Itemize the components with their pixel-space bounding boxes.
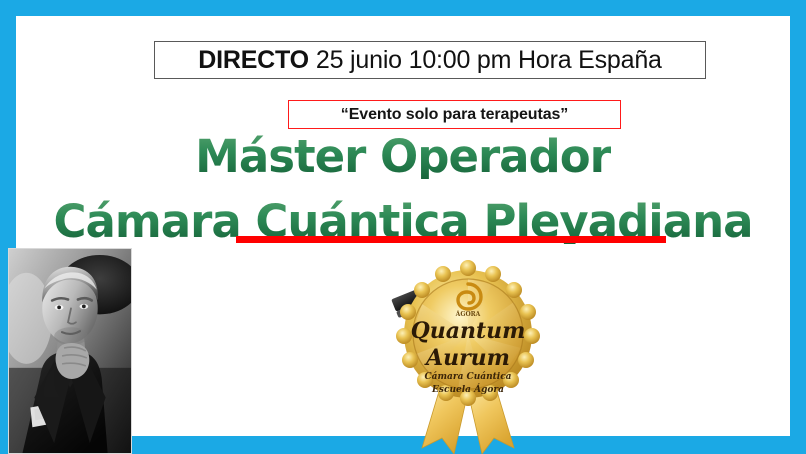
speaker-portrait <box>8 248 132 454</box>
audience-note-text: “Evento solo para terapeutas” <box>341 106 568 124</box>
portrait-image <box>9 249 131 453</box>
title-line-1-text: Máster Operador <box>195 134 611 179</box>
presentation-slide: DIRECTO 25 junio 10:00 pm Hora España “E… <box>0 0 806 454</box>
seal-title-line-2: Aurum <box>424 345 510 371</box>
audience-note-box: “Evento solo para terapeutas” <box>288 100 621 129</box>
banner-lead-label: DIRECTO <box>198 46 309 75</box>
seal-subtitle-line-2: Escuela Ágora <box>431 383 504 395</box>
live-event-banner: DIRECTO 25 junio 10:00 pm Hora España <box>154 41 706 79</box>
title-line-1: Máster Operador Máster Operador <box>16 134 790 179</box>
main-title: Máster Operador Máster Operador Cámara C… <box>16 134 790 244</box>
seal-subtitle-line-1: Cámara Cuántica <box>424 371 511 382</box>
slide-canvas: DIRECTO 25 junio 10:00 pm Hora España “E… <box>16 16 790 436</box>
agora-emblem-label: ÁGORA <box>455 311 481 318</box>
banner-detail-label: 25 junio 10:00 pm Hora España <box>316 46 662 75</box>
title-underline-bar <box>236 236 666 243</box>
seal-graphic: ÁGORA Quantum Aurum Cámara Cuántica Escu… <box>388 262 548 454</box>
seal-title-line-1: Quantum <box>411 318 526 344</box>
quantum-aurum-seal: ÁGORA Quantum Aurum Cámara Cuántica Escu… <box>388 262 548 454</box>
